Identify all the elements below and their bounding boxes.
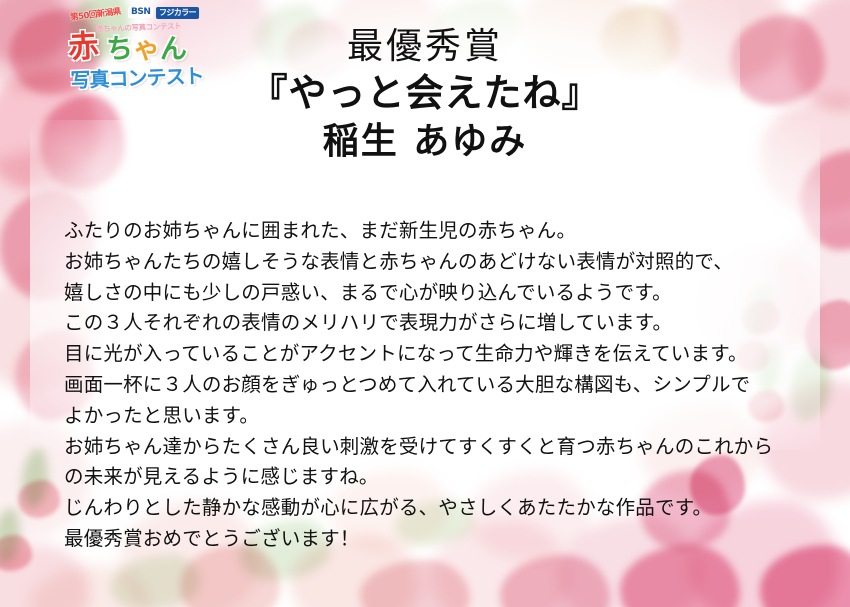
logo-word-chan: ちゃん [106, 36, 187, 63]
bsn-logo: BSN [128, 7, 153, 18]
comment-line: 目に光が入っていることがアクセントになって生命力や輝きを伝えています。 [64, 339, 820, 370]
judge-comment-body: ふたりのお姉ちゃんに囲まれた、まだ新生児の赤ちゃん。 お姉ちゃんたちの嬉しそうな… [64, 216, 820, 555]
logo-chan-char-1: ち [106, 34, 133, 65]
logo-word-photo-contest: 写真コンテスト [62, 65, 213, 90]
comment-line: お姉ちゃんたちの嬉しそうな表情と赤ちゃんのあどけない表情が対照的で、 [64, 247, 820, 278]
comment-line: 嬉しさの中にも少しの戸惑い、まるで心が映り込んでいるようです。 [64, 278, 820, 309]
comment-line: ふたりのお姉ちゃんに囲まれた、まだ新生児の赤ちゃん。 [64, 216, 820, 247]
logo-word-aka: 赤 [67, 31, 100, 64]
logo-anniversary-text: 第50回新潟県 [69, 5, 121, 23]
comment-line: この３人それぞれの表情のメリハリで表現力がさらに増しています。 [64, 308, 820, 339]
logo-top-row: 第50回新潟県 BSN フジカラー [62, 6, 212, 23]
comment-line: お姉ちゃん達からたくさん良い刺激を受けてすくすくと育つ赤ちゃんのこれから [64, 432, 820, 463]
comment-line: じんわりとした静かな感動が心に広がる、やさしくあたたかな作品です。 [64, 493, 820, 524]
logo-chan-char-2: ゃ [133, 34, 160, 65]
comment-line: よかったと思います。 [64, 401, 820, 432]
comment-line: 画面一杯に３人のお顔をぎゅっとつめて入れている大胆な構図も、シンプルで [64, 370, 820, 401]
author-name: 稲生 あゆみ [0, 120, 850, 163]
fujicolor-logo: フジカラー [156, 7, 199, 19]
contest-logo: 第50回新潟県 BSN フジカラー 赤ちゃんの写真コンテスト 赤 ちゃん 写真コ… [62, 6, 212, 100]
logo-subtitle: 赤ちゃんの写真コンテスト [96, 21, 182, 35]
award-announcement-page: 第50回新潟県 BSN フジカラー 赤ちゃんの写真コンテスト 赤 ちゃん 写真コ… [0, 0, 850, 607]
comment-line: 最優秀賞おめでとうございます！ [64, 524, 820, 555]
logo-chan-char-3: ん [160, 34, 187, 65]
comment-line: の未来が見えるように感じますね。 [64, 462, 820, 493]
